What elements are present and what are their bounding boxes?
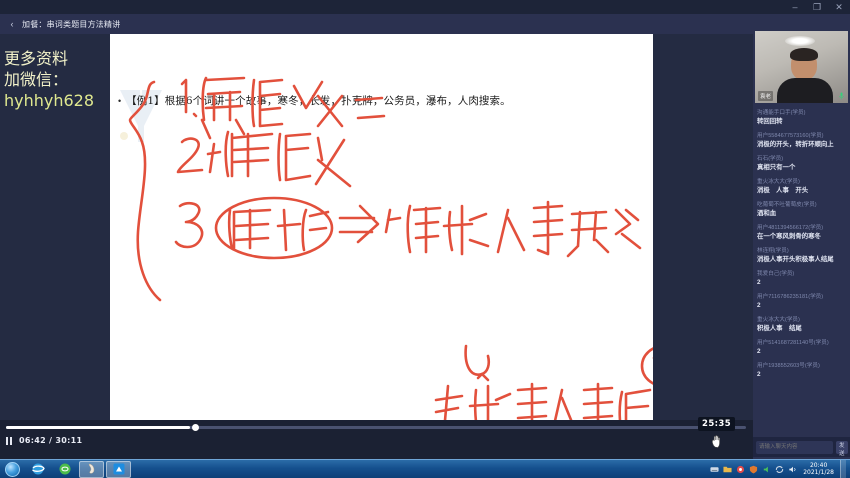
seek-hover-tooltip: 25:35	[698, 417, 735, 431]
chat-message-text: 2	[757, 347, 846, 356]
chat-message: 重火冰大大(学员) 积极人事 结尾	[757, 316, 846, 333]
chat-message: 用户5141687281140号(学员) 2	[757, 339, 846, 356]
chat-message-list[interactable]: 沟通能手口手(学员) 转回回转 用户5584677573160(学员) 消极的开…	[753, 107, 850, 427]
close-button[interactable]: ✕	[834, 2, 844, 12]
taskbar-item-browser-360[interactable]	[52, 461, 77, 478]
chat-user-name: 我爱白己(学员)	[757, 270, 846, 278]
chat-user-name: 重火冰大大(学员)	[757, 316, 846, 324]
chat-user-name: 用户7116786235181(学员)	[757, 293, 846, 301]
taskbar-item-classin-app[interactable]	[106, 461, 131, 478]
internet-explorer-icon	[31, 462, 45, 476]
chat-message: 吃葡萄不吐葡萄皮(学员) 酒和血	[757, 201, 846, 218]
watermark-wechat-id: hyhhyh628	[4, 90, 106, 111]
media-app-icon	[85, 462, 99, 476]
back-chevron-icon[interactable]: ‹	[8, 19, 16, 29]
webcam-light-glare	[785, 36, 815, 46]
chat-message-text: 消极 人事 开头	[757, 186, 846, 195]
webcam-torso	[777, 78, 833, 103]
teacher-webcam[interactable]: 袁老	[755, 31, 848, 103]
slide-canvas[interactable]: • 【例1】根据6个词讲一个故事，寒冬，长发，扑克牌，公务员，瀑布，人肉搜索。	[110, 34, 653, 426]
player-time-display: 06:42 / 30:11	[19, 436, 82, 445]
webcam-hair	[790, 48, 818, 61]
send-button[interactable]: 发送	[836, 441, 848, 454]
chat-message: 用户5584677573160(学员) 消极的开头，转折环顺向上	[757, 132, 846, 149]
handwritten-annotation-layer	[110, 34, 653, 426]
windows-logo-icon	[5, 462, 20, 477]
video-player-controls: 06:42 / 30:11	[0, 420, 753, 459]
chat-message-text: 酒和血	[757, 209, 846, 218]
right-sidebar: 袁老 沟通能手口手(学员) 转回回转 用户5584677573160(学员) 消…	[753, 14, 850, 459]
chat-message: 用户4811394566172(学员) 在一个寒风刺骨的寒冬	[757, 224, 846, 241]
classin-app-icon	[112, 462, 126, 476]
browser-360-icon	[58, 462, 72, 476]
chat-message: 沟通能手口手(学员) 转回回转	[757, 109, 846, 126]
chat-message-text: 2	[757, 370, 846, 379]
keyboard-icon[interactable]	[710, 465, 719, 474]
chat-message: 林连翔(学员) 消极人事开头积极事人结尾	[757, 247, 846, 264]
system-tray: 20:40 2021/1/28	[710, 460, 850, 478]
clock-time: 20:40	[801, 462, 836, 469]
classin-live-class-window: – ❐ ✕ ‹ 加餐：串词类题目方法精讲 更多资料 加微信： hyhhyh628…	[0, 0, 850, 478]
chat-message-text: 2	[757, 301, 846, 310]
chat-user-name: 用户1938552603号(学员)	[757, 362, 846, 370]
windows-taskbar: 20:40 2021/1/28	[0, 459, 850, 478]
chat-user-name: 林连翔(学员)	[757, 247, 846, 255]
shield-icon[interactable]	[749, 465, 758, 474]
chat-user-name: 用户5141687281140号(学员)	[757, 339, 846, 347]
chat-message: 用户7116786235181(学员) 2	[757, 293, 846, 310]
chat-message-text: 消极人事开头积极事人结尾	[757, 255, 846, 264]
watermark-panel: 更多资料 加微信： hyhhyh628	[0, 34, 110, 429]
volume-icon[interactable]	[788, 465, 797, 474]
chat-input[interactable]	[756, 441, 833, 454]
chat-input-bar: 发送	[753, 437, 850, 457]
course-title: 加餐：串词类题目方法精讲	[22, 19, 120, 30]
chat-message-text: 2	[757, 278, 846, 287]
chat-message: 用户1938552603号(学员) 2	[757, 362, 846, 379]
chat-message: 石石(学员) 真相只有一个	[757, 155, 846, 172]
sound-green-icon[interactable]	[762, 465, 771, 474]
chat-message-text: 转回回转	[757, 117, 846, 126]
record-icon[interactable]	[736, 465, 745, 474]
slide-stage: • 【例1】根据6个词讲一个故事，寒冬，长发，扑克牌，公务员，瀑布，人肉搜索。	[105, 34, 653, 429]
chat-message-text: 消极的开头，转折环顺向上	[757, 140, 846, 149]
microphone-icon	[839, 92, 844, 100]
hand-cursor-icon	[711, 434, 723, 448]
maximize-button[interactable]: ❐	[812, 2, 822, 12]
chat-user-name: 用户5584677573160(学员)	[757, 132, 846, 140]
chat-message: 重火冰大大(学员) 消极 人事 开头	[757, 178, 846, 195]
minimize-button[interactable]: –	[790, 2, 800, 12]
pause-icon[interactable]	[6, 437, 12, 445]
folder-icon[interactable]	[723, 465, 732, 474]
start-button[interactable]	[1, 461, 23, 478]
player-left-controls: 06:42 / 30:11	[6, 436, 82, 445]
taskbar-clock[interactable]: 20:40 2021/1/28	[801, 462, 836, 476]
webcam-name-label: 袁老	[758, 91, 773, 101]
watermark-line-2: 加微信：	[4, 69, 106, 90]
window-titlebar: – ❐ ✕	[0, 0, 850, 14]
taskbar-item-internet-explorer[interactable]	[25, 461, 50, 478]
chat-message-text: 积极人事 结尾	[757, 324, 846, 333]
video-progress-bar[interactable]	[6, 426, 746, 429]
course-header: ‹ 加餐：串词类题目方法精讲	[0, 14, 850, 34]
chat-message-text: 在一个寒风刺骨的寒冬	[757, 232, 846, 241]
chat-user-name: 石石(学员)	[757, 155, 846, 163]
watermark-line-1: 更多资料	[4, 48, 106, 69]
chat-user-name: 沟通能手口手(学员)	[757, 109, 846, 117]
window-controls: – ❐ ✕	[790, 0, 844, 14]
video-progress-handle[interactable]	[192, 424, 199, 431]
chat-user-name: 重火冰大大(学员)	[757, 178, 846, 186]
show-desktop-button[interactable]	[840, 460, 846, 478]
sync-icon[interactable]	[775, 465, 784, 474]
chat-user-name: 吃葡萄不吐葡萄皮(学员)	[757, 201, 846, 209]
clock-date: 2021/1/28	[801, 469, 836, 476]
chat-message: 我爱白己(学员) 2	[757, 270, 846, 287]
chat-message-text: 真相只有一个	[757, 163, 846, 172]
chat-user-name: 用户4811394566172(学员)	[757, 224, 846, 232]
video-progress-played	[6, 426, 190, 429]
taskbar-item-media-app[interactable]	[79, 461, 104, 478]
